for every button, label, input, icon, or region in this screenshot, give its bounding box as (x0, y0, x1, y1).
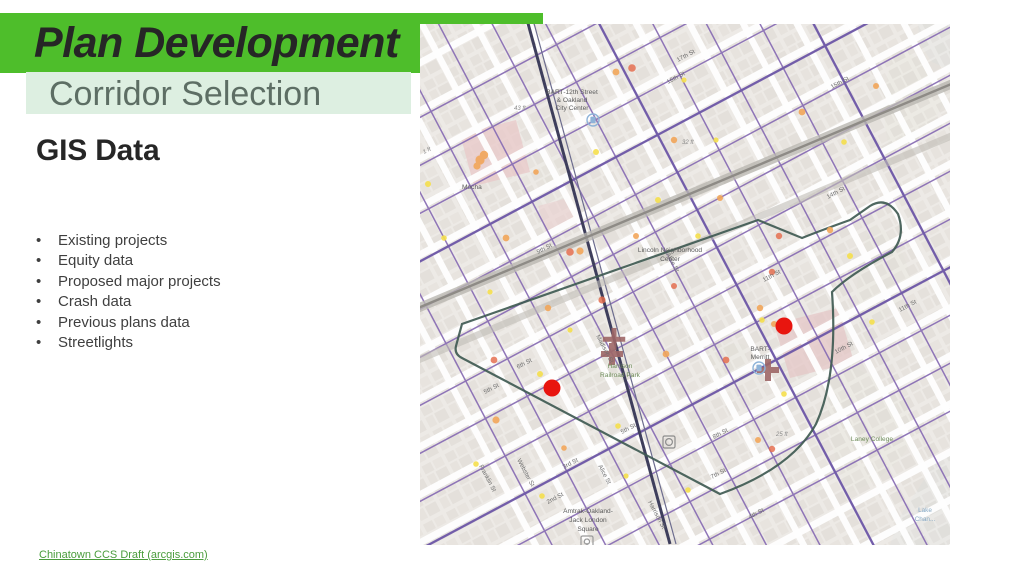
svg-text:BART-: BART- (750, 346, 769, 353)
list-item: • Equity data (32, 251, 402, 271)
list-item-label: Existing projects (58, 232, 167, 249)
svg-text:Lake: Lake (918, 507, 932, 514)
svg-text:Square: Square (577, 526, 599, 533)
svg-text:Laney College: Laney College (851, 436, 893, 443)
svg-text:Jack London: Jack London (569, 517, 607, 524)
bullet-glyph: • (36, 251, 41, 271)
svg-text:Center: Center (660, 256, 681, 263)
bullet-glyph: • (36, 231, 41, 251)
list-item: • Previous plans data (32, 313, 402, 333)
section-heading: GIS Data (36, 134, 159, 168)
list-item-label: Crash data (58, 293, 131, 310)
svg-text:Merritt: Merritt (751, 354, 770, 361)
list-item-label: Previous plans data (58, 314, 190, 331)
svg-text:32 ft: 32 ft (682, 140, 694, 146)
bullet-glyph: • (36, 313, 41, 333)
svg-text:Railroad Park: Railroad Park (600, 372, 641, 379)
red-marker-south[interactable] (544, 380, 561, 397)
gis-map-figure[interactable]: 17th St 16th St 15th St 14th St 11th St … (420, 24, 950, 545)
list-item: • Existing projects (32, 231, 402, 251)
list-item-label: Proposed major projects (58, 273, 221, 290)
source-link[interactable]: Chinatown CCS Draft (arcgis.com) (39, 549, 208, 561)
svg-text:& Oakland: & Oakland (557, 97, 588, 104)
list-item-label: Equity data (58, 252, 133, 269)
svg-text:43 ft: 43 ft (514, 106, 526, 112)
red-marker-north[interactable] (776, 318, 793, 335)
svg-text:25 ft: 25 ft (775, 432, 788, 438)
list-item: • Proposed major projects (32, 272, 402, 292)
svg-text:Harrison: Harrison (608, 363, 633, 370)
page-subtitle: Corridor Selection (49, 72, 449, 114)
svg-text:Amtrak-Oakland-: Amtrak-Oakland- (563, 508, 613, 515)
list-item: • Streetlights (32, 333, 402, 353)
list-item-label: Streetlights (58, 334, 133, 351)
bullet-glyph: • (36, 292, 41, 312)
list-item: • Crash data (32, 292, 402, 312)
svg-text:Chan...: Chan... (915, 516, 936, 523)
gis-data-bullet-list: • Existing projects • Equity data • Prop… (32, 231, 402, 353)
bullet-glyph: • (36, 272, 41, 292)
bullet-glyph: • (36, 333, 41, 353)
svg-text:BART-12th Street: BART-12th Street (546, 89, 598, 96)
svg-text:Lincoln Neighborhood: Lincoln Neighborhood (638, 247, 702, 254)
svg-text:City Center: City Center (556, 105, 590, 112)
svg-text:Mocha: Mocha (462, 184, 482, 191)
